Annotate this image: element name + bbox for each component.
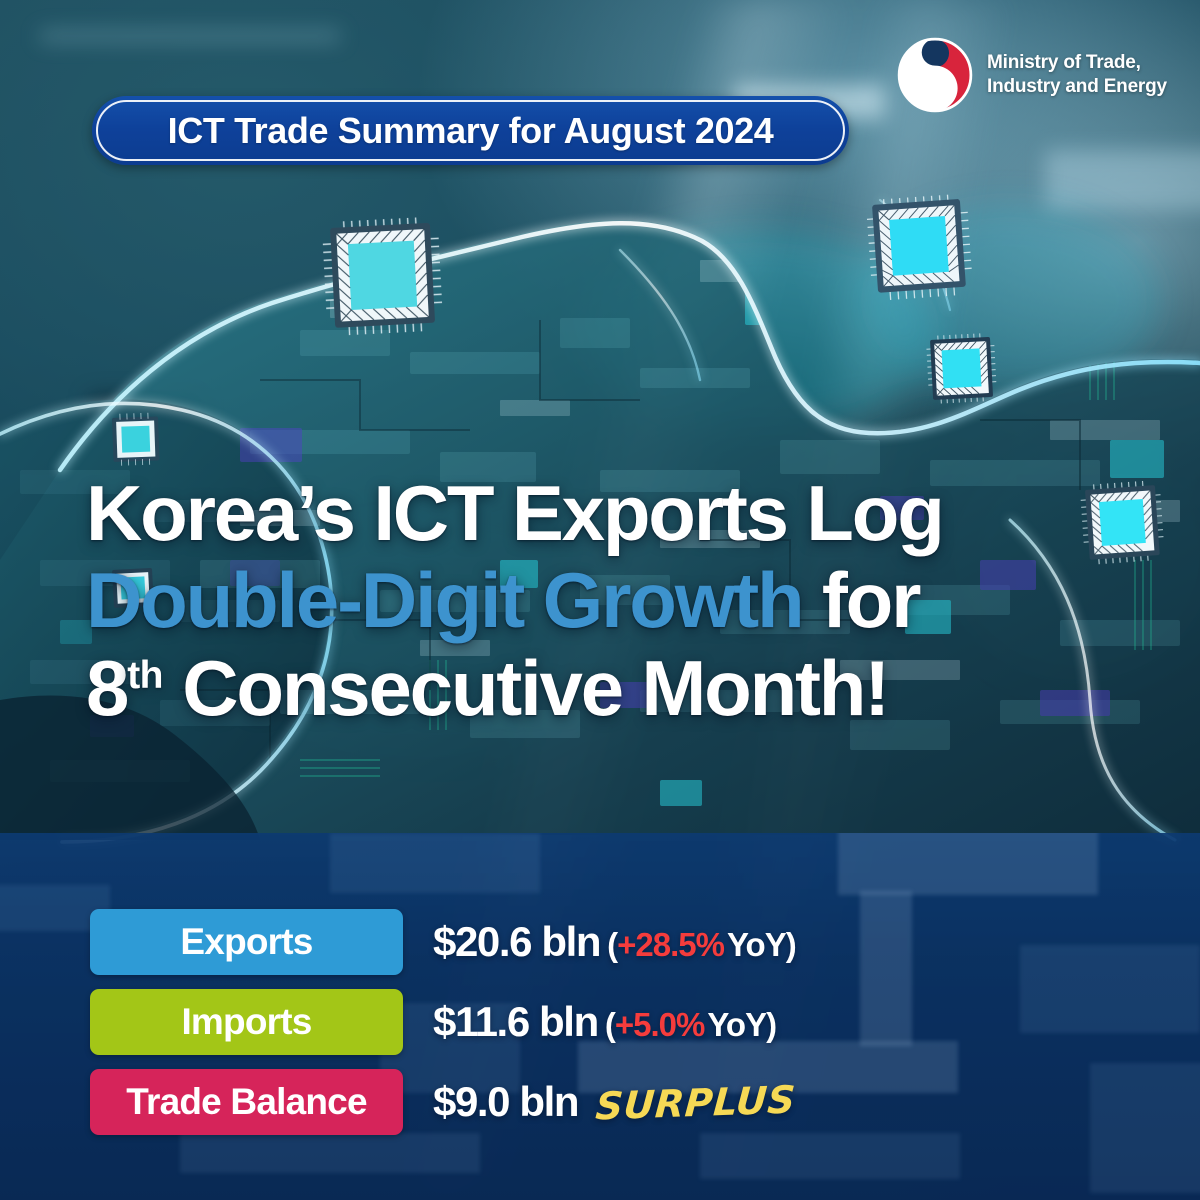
- stat-chip-trade-balance: Trade Balance: [90, 1069, 403, 1135]
- stat-value-imports: $11.6 bln (+5.0%YoY): [433, 998, 776, 1046]
- stat-amount: $20.6 bln: [433, 918, 600, 966]
- stat-row: Imports $11.6 bln (+5.0%YoY): [90, 988, 1110, 1056]
- panel-ghost-shape: [838, 833, 1098, 895]
- stat-yoy-label: YoY: [707, 1006, 766, 1043]
- infographic-canvas: ICT Trade Summary for August 2024 Minist…: [0, 0, 1200, 1200]
- stat-paren-close: ): [766, 1006, 776, 1043]
- microchip-icon: [1080, 480, 1165, 565]
- stat-amount: $9.0 bln: [433, 1078, 578, 1126]
- microchip-icon: [322, 216, 444, 336]
- ministry-name-line2: Industry and Energy: [987, 75, 1167, 99]
- stats-list: Exports $20.6 bln (+28.5%YoY) Imports $1…: [90, 908, 1110, 1136]
- stat-delta-group: (+5.0%YoY): [605, 1006, 776, 1044]
- ministry-name-text: Ministry of Trade, Industry and Energy: [987, 51, 1167, 100]
- headline-line-3: 8th Consecutive Month!: [86, 645, 1086, 732]
- ministry-name-line1: Ministry of Trade,: [987, 51, 1167, 75]
- panel-ghost-shape: [700, 1133, 960, 1179]
- stat-value-exports: $20.6 bln (+28.5%YoY): [433, 918, 796, 966]
- headline-line-3-tail: Consecutive Month!: [163, 644, 888, 732]
- korea-government-taegeuk-icon: [896, 36, 974, 114]
- stat-delta-pct: +5.0%: [615, 1006, 705, 1043]
- headline-ordinal-suffix: th: [127, 654, 163, 697]
- stat-chip-label: Exports: [180, 921, 312, 963]
- stat-yoy-label: YoY: [727, 926, 786, 963]
- stat-row: Exports $20.6 bln (+28.5%YoY): [90, 908, 1110, 976]
- headline-line-2-tail: for: [802, 556, 919, 644]
- stat-row: Trade Balance $9.0 bln SURPLUS: [90, 1068, 1110, 1136]
- stat-paren-open: (: [605, 1006, 615, 1043]
- title-badge-label: ICT Trade Summary for August 2024: [168, 110, 774, 152]
- stat-paren-open: (: [607, 926, 617, 963]
- stat-delta-pct: +28.5%: [617, 926, 724, 963]
- headline-line-2: Double-Digit Growth for: [86, 557, 1086, 644]
- ministry-logo: Ministry of Trade, Industry and Energy: [896, 36, 1167, 114]
- stat-chip-exports: Exports: [90, 909, 403, 975]
- headline-ordinal-number: 8: [86, 644, 127, 732]
- stat-chip-label: Imports: [181, 1001, 311, 1043]
- headline: Korea’s ICT Exports Log Double-Digit Gro…: [86, 470, 1086, 732]
- stat-chip-label: Trade Balance: [126, 1081, 367, 1123]
- stat-surplus-badge: SURPLUS: [594, 1078, 797, 1129]
- panel-ghost-shape: [330, 833, 540, 893]
- stat-paren-close: ): [786, 926, 796, 963]
- stat-delta-group: (+28.5%YoY): [607, 926, 796, 964]
- microchip-icon: [866, 193, 974, 301]
- microchip-icon: [112, 412, 160, 466]
- stat-value-trade-balance: $9.0 bln SURPLUS: [433, 1078, 795, 1126]
- microchip-icon: [926, 333, 997, 404]
- panel-ghost-shape: [180, 1133, 480, 1173]
- headline-line-1: Korea’s ICT Exports Log: [86, 470, 1086, 557]
- title-badge: ICT Trade Summary for August 2024: [92, 96, 849, 165]
- headline-accent-text: Double-Digit Growth: [86, 556, 802, 644]
- stat-chip-imports: Imports: [90, 989, 403, 1055]
- stat-amount: $11.6 bln: [433, 998, 598, 1046]
